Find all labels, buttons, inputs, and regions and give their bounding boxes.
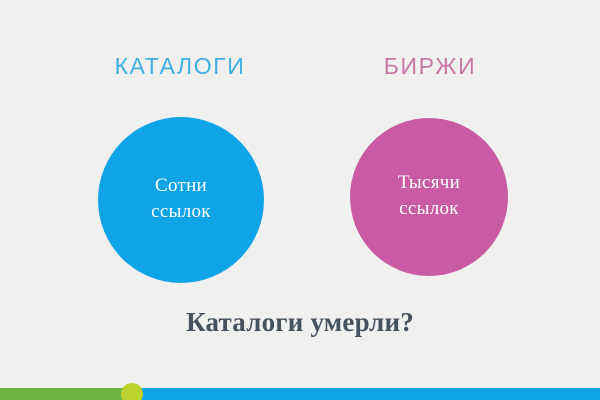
circle-catalogs-line2: ссылок (151, 199, 211, 225)
column-heading-exchanges: БИРЖИ (340, 52, 520, 80)
circle-catalogs: Сотни ссылок (98, 117, 264, 283)
column-heading-catalogs: КАТАЛОГИ (80, 52, 280, 80)
presentation-slide: КАТАЛОГИ БИРЖИ Сотни ссылок Тысячи ссыло… (0, 0, 600, 400)
circle-exchanges: Тысячи ссылок (350, 118, 508, 276)
progress-bar[interactable] (0, 388, 600, 400)
circle-catalogs-label: Сотни ссылок (151, 173, 211, 227)
progress-bar-fill (0, 388, 132, 400)
circle-exchanges-line1: Тысячи (398, 170, 460, 196)
circle-exchanges-line2: ссылок (398, 196, 460, 222)
progress-bar-handle[interactable] (121, 383, 143, 400)
slide-caption: Каталоги умерли? (0, 307, 600, 338)
circle-exchanges-label: Тысячи ссылок (398, 170, 460, 224)
circle-catalogs-line1: Сотни (151, 173, 211, 199)
